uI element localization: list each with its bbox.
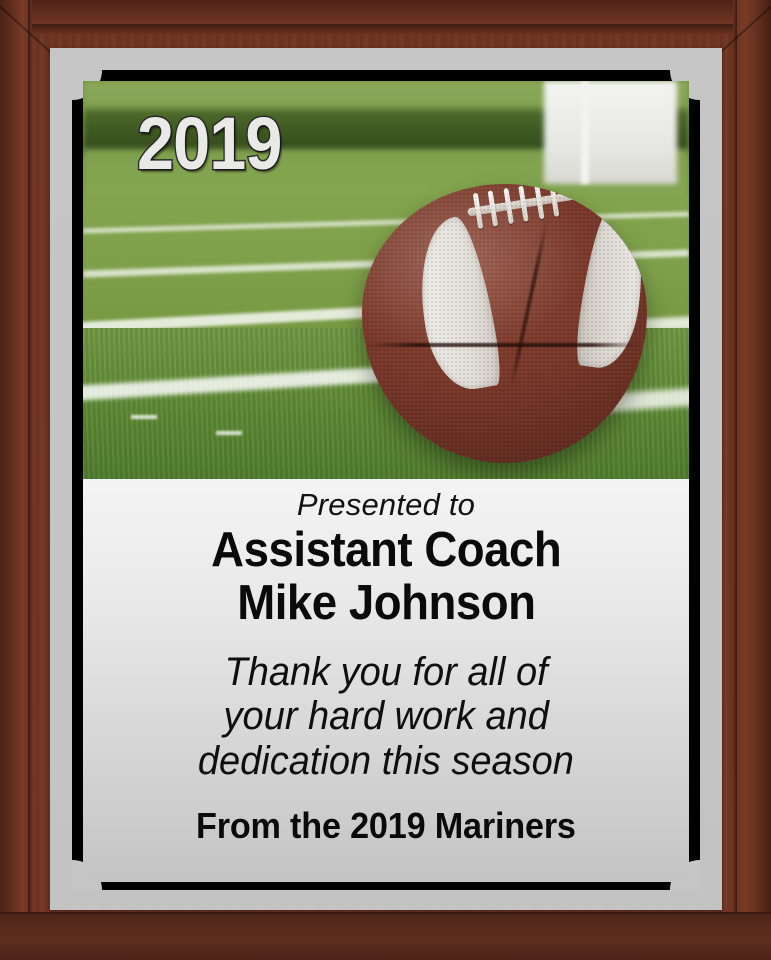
wood-frame-right-bevel xyxy=(735,0,771,960)
presented-to-label: Presented to xyxy=(297,489,475,522)
football-stripe-left xyxy=(407,213,504,395)
year-overlay-text: 2019 xyxy=(137,107,282,181)
hash-mark xyxy=(216,431,242,435)
frame-border-left xyxy=(72,70,83,890)
wood-frame-top-bevel xyxy=(0,0,771,26)
message-line: Thank you for all of xyxy=(224,650,547,695)
lace xyxy=(549,184,560,217)
lace xyxy=(472,193,483,230)
football-panel-seam xyxy=(509,219,549,389)
wood-frame-top-groove xyxy=(0,24,771,34)
message-line: your hard work and xyxy=(223,694,548,739)
award-plaque: 2019 Presented to Assistant Coach Mike J… xyxy=(0,0,771,960)
frame-border-bottom xyxy=(72,882,700,890)
recipient-name: Mike Johnson xyxy=(237,579,535,628)
wood-frame-bottom-groove xyxy=(0,912,771,916)
from-line: From the 2019 Mariners xyxy=(196,808,576,844)
lace xyxy=(534,184,545,219)
wood-frame-right-groove xyxy=(733,0,737,960)
lace xyxy=(518,185,529,222)
wood-frame-left-groove xyxy=(28,0,32,960)
wood-frame-left-bevel xyxy=(0,0,30,960)
football-field-photo: 2019 xyxy=(83,81,689,479)
recipient-title: Assistant Coach xyxy=(211,526,561,575)
goalpost-icon xyxy=(581,81,589,184)
frame-border-top xyxy=(72,70,700,81)
background-bleacher xyxy=(544,81,677,184)
engraving-text-area: Presented to Assistant Coach Mike Johnso… xyxy=(83,479,689,882)
football-seam xyxy=(367,343,640,347)
lace-band xyxy=(467,191,575,216)
message-line: dedication this season xyxy=(198,739,574,784)
hash-mark xyxy=(131,415,157,419)
silver-engraving-plate: 2019 Presented to Assistant Coach Mike J… xyxy=(50,48,722,910)
frame-border-right xyxy=(689,70,700,890)
football-laces xyxy=(471,184,572,229)
lace xyxy=(503,188,514,225)
black-decorative-frame: 2019 Presented to Assistant Coach Mike J… xyxy=(72,70,700,910)
lace xyxy=(488,190,499,227)
wood-frame-bottom-bevel xyxy=(0,914,771,960)
